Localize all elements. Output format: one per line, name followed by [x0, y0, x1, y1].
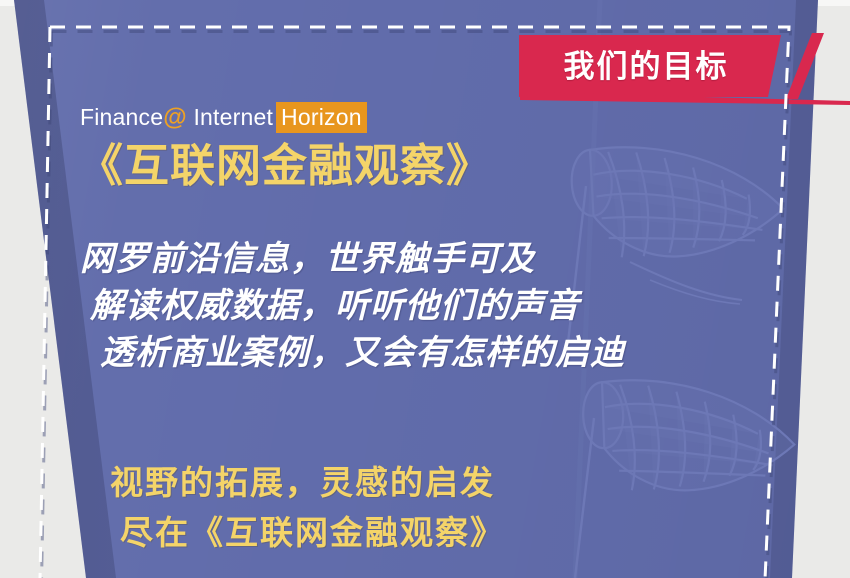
body-line: 网罗前沿信息，世界触手可及: [80, 236, 850, 283]
poster-content: Finance@ InternetHorizon 《互联网金融观察》 网罗前沿信…: [0, 0, 850, 578]
at-symbol-icon: @: [163, 104, 187, 131]
eyebrow-part1: Finance: [80, 104, 163, 130]
closing-copy: 视野的拓展，灵感的启发 尽在《互联网金融观察》: [0, 458, 850, 558]
page-title: 《互联网金融观察》: [78, 141, 492, 191]
eyebrow-part2: Internet: [193, 104, 273, 130]
closing-line: 视野的拓展，灵感的启发: [110, 458, 850, 508]
closing-line: 尽在《互联网金融观察》: [120, 508, 850, 558]
body-line: 透析商业案例，又会有怎样的启迪: [100, 330, 850, 377]
eyebrow-highlight: Horizon: [276, 102, 367, 133]
body-copy: 网罗前沿信息，世界触手可及 解读权威数据，听听他们的声音 透析商业案例，又会有怎…: [0, 236, 850, 377]
body-line: 解读权威数据，听听他们的声音: [90, 283, 850, 330]
poster-canvas: 我们的目标 Finance@ InternetHorizon 《互联网金融观察》…: [0, 0, 850, 578]
eyebrow-tagline: Finance@ InternetHorizon: [80, 106, 367, 130]
